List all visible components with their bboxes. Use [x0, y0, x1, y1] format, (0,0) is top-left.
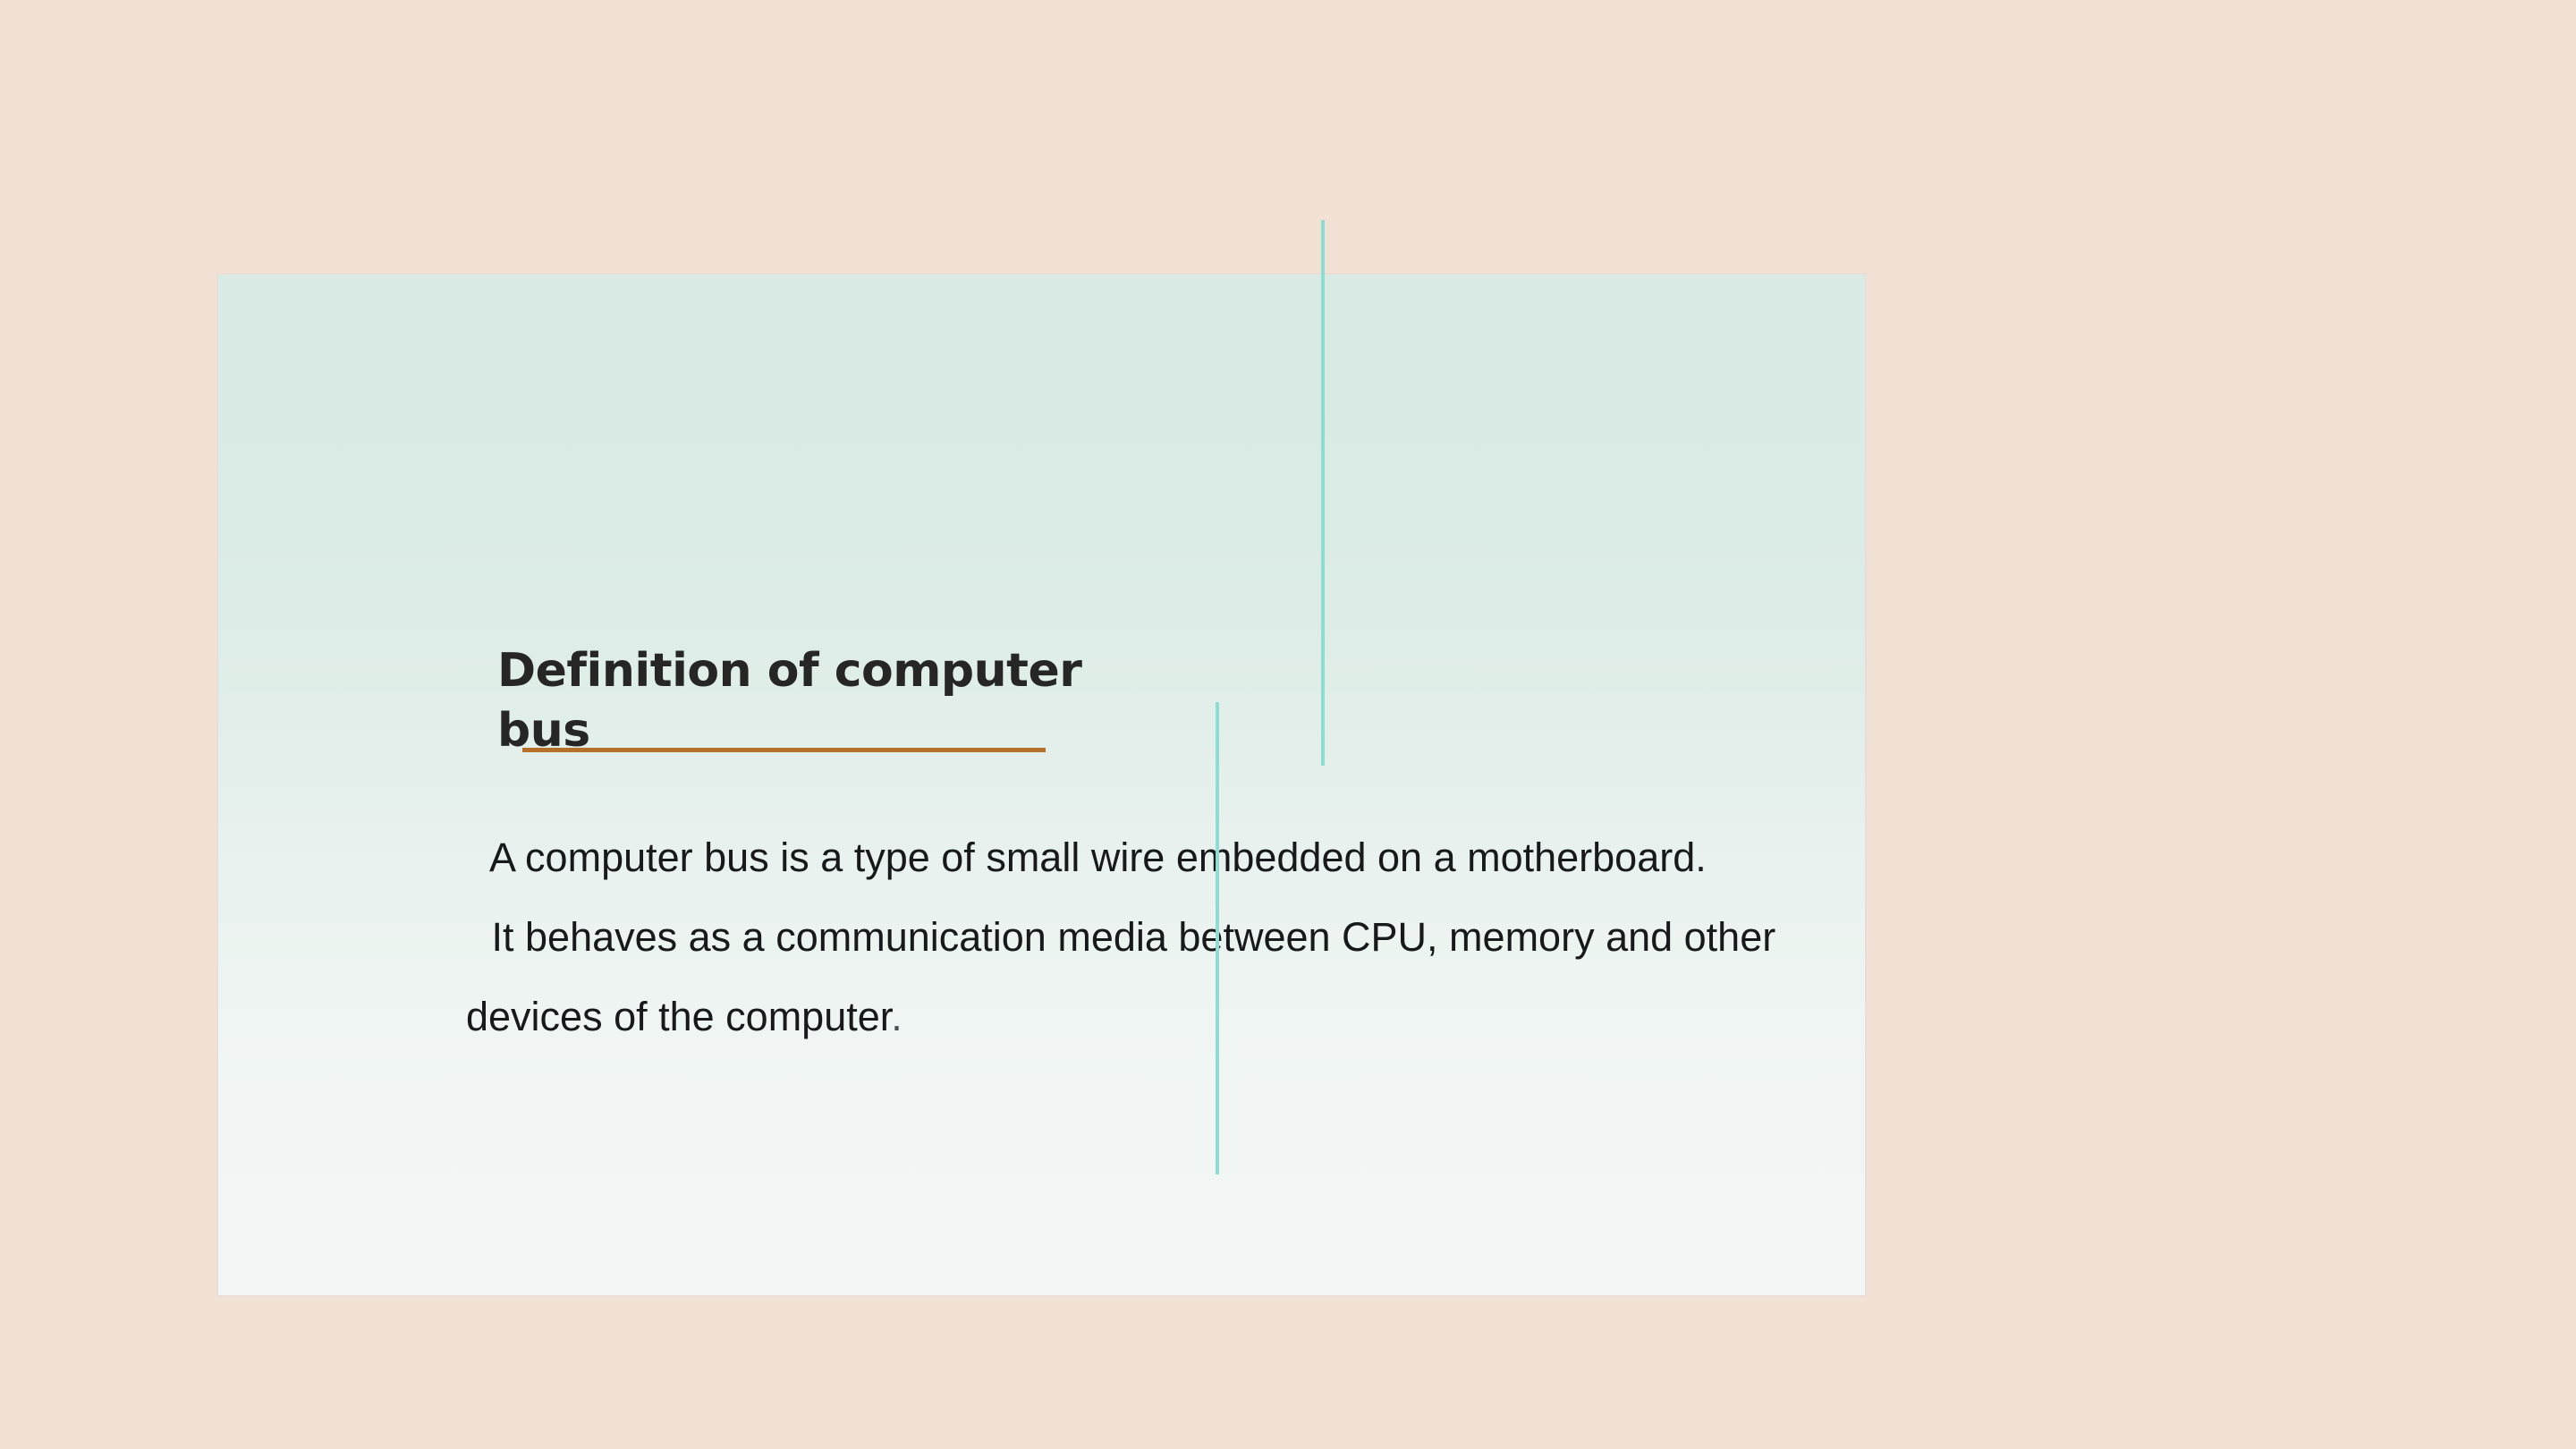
body-line-3-text: devices of the computer [466, 994, 891, 1039]
body-line-1: A computer bus is a type of small wire e… [466, 834, 1861, 881]
slide-title-block: Definition of computer bus [497, 641, 1177, 760]
slide-canvas: Definition of computer bus A computer bu… [0, 0, 2576, 1449]
page-title: Definition of computer bus [497, 641, 1177, 760]
body-trailing-period: . [891, 994, 902, 1039]
body-line-2: It behaves as a communication media betw… [466, 913, 1861, 961]
title-underline-rule [522, 748, 1046, 752]
vertical-rule-long-icon [1321, 220, 1325, 766]
slide-body-block: A computer bus is a type of small wire e… [466, 834, 1861, 1040]
slide-card: Definition of computer bus A computer bu… [216, 273, 1867, 1297]
body-line-3: devices of the computer. [466, 993, 1861, 1040]
vertical-rule-short-icon [1216, 702, 1219, 1174]
